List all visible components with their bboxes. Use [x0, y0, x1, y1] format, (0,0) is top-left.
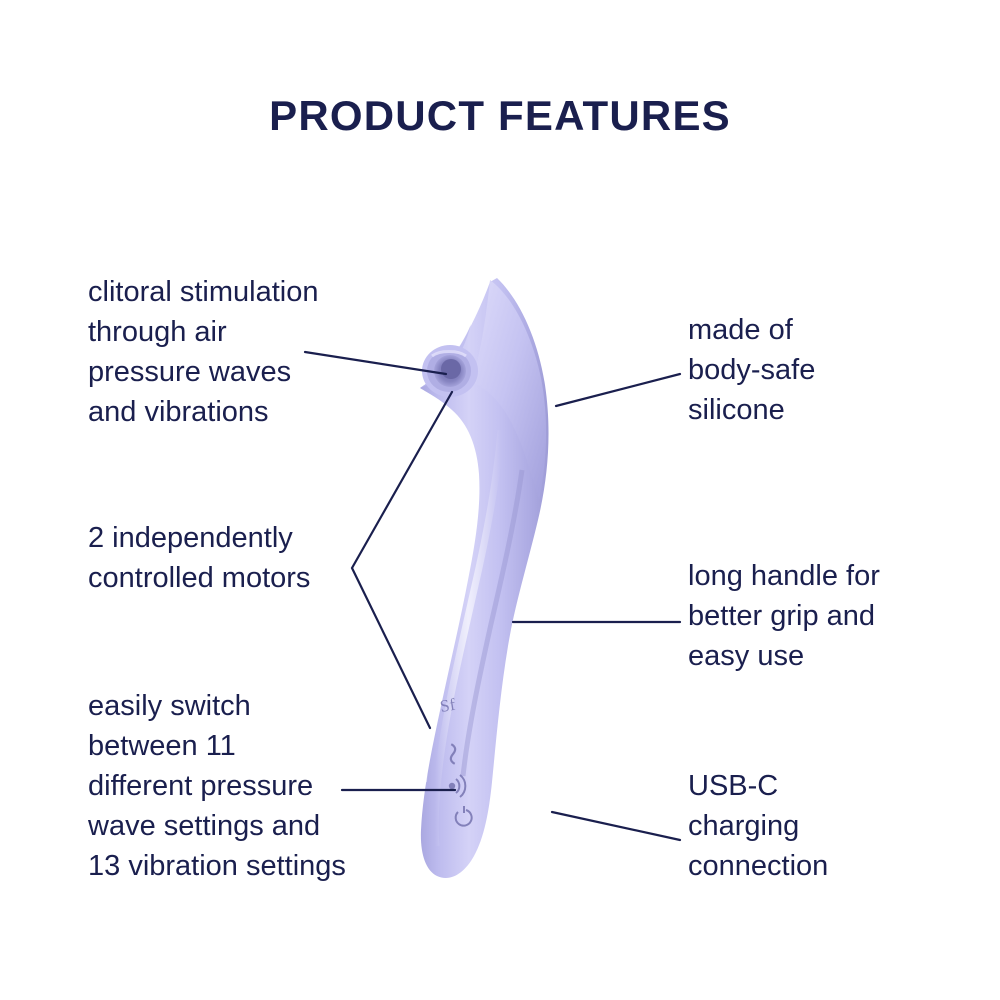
- leader-line-two-motors: [352, 392, 452, 728]
- leader-line-silicone: [556, 374, 680, 406]
- leader-line-usbc: [552, 812, 680, 840]
- leader-line-clitoral-stimulation: [305, 352, 446, 374]
- product-features-infographic: PRODUCT FEATURES: [0, 0, 1000, 1000]
- leader-lines: [0, 0, 1000, 1000]
